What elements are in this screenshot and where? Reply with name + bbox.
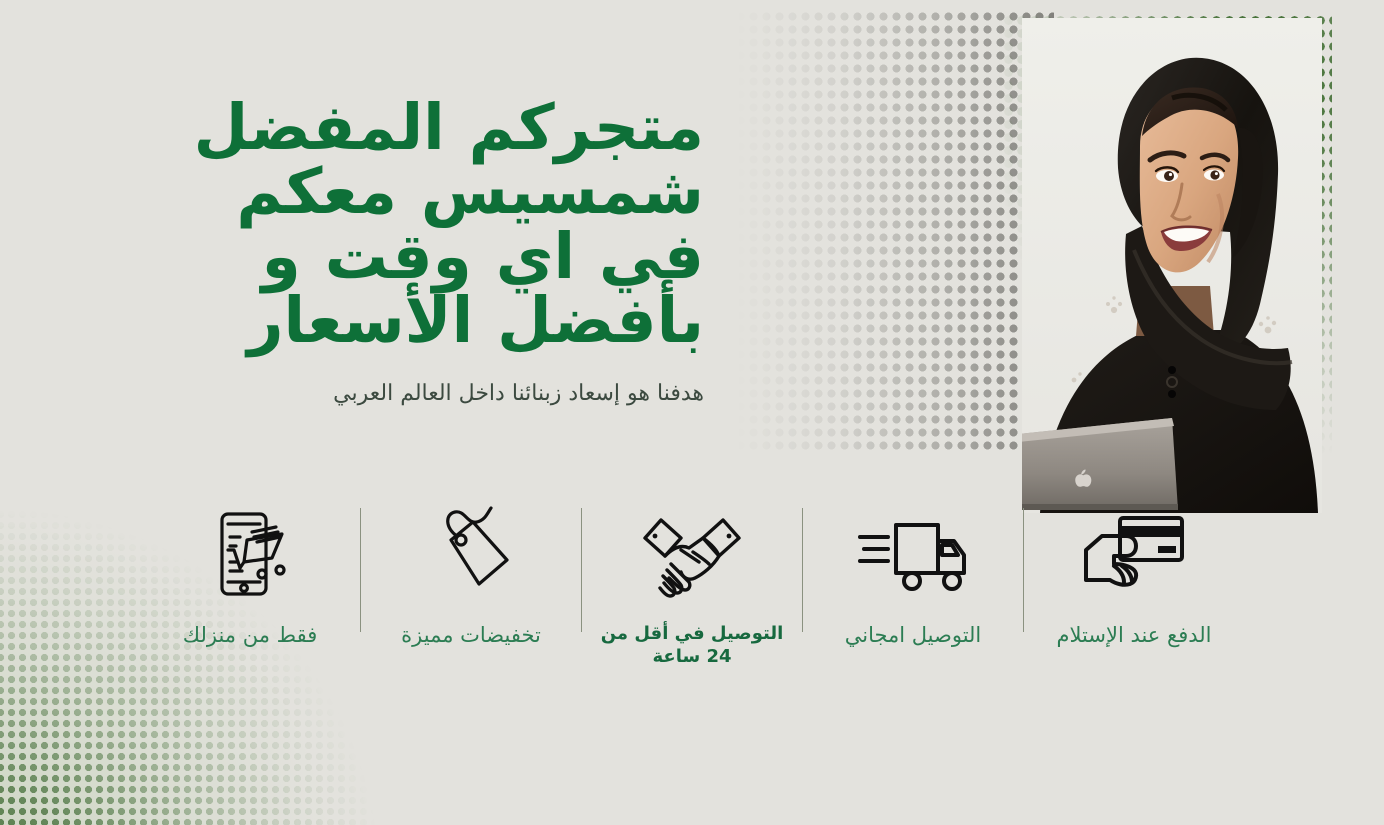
feature-label: التوصيل في أقل من 24 ساعة	[601, 622, 784, 669]
page-title: متجركم المفضل شمسيس معكم في اي وقت و بأف…	[184, 96, 704, 353]
handshake-icon	[641, 500, 743, 608]
feature-label: فقط من منزلك	[183, 622, 317, 648]
hero-subtitle: هدفنا هو إسعاد زبنائنا داخل العالم العرب…	[184, 379, 704, 409]
feature-label: التوصيل امجاني	[845, 622, 982, 648]
mobile-shopping-icon	[200, 500, 300, 608]
feature-item[interactable]: التوصيل امجاني	[815, 500, 1011, 648]
card-payment-hand-icon	[1080, 500, 1188, 608]
feature-divider	[581, 508, 582, 632]
feature-item[interactable]: فقط من منزلك	[152, 500, 348, 648]
delivery-truck-icon	[858, 500, 968, 608]
feature-divider	[360, 508, 361, 632]
feature-item[interactable]: التوصيل في أقل من 24 ساعة	[594, 500, 790, 669]
hero-copy: متجركم المفضل شمسيس معكم في اي وقت و بأف…	[184, 96, 704, 409]
hero-portrait-photo	[1022, 18, 1322, 513]
promo-banner: متجركم المفضل شمسيس معكم في اي وقت و بأف…	[0, 0, 1384, 825]
feature-item[interactable]: الدفع عند الإستلام	[1036, 500, 1232, 648]
feature-item[interactable]: تخفيضات مميزة	[373, 500, 569, 648]
feature-divider	[802, 508, 803, 632]
price-tag-icon	[421, 500, 521, 608]
feature-label: تخفيضات مميزة	[401, 622, 541, 648]
halftone-dots-grey-top-right	[734, 10, 1054, 450]
feature-strip: فقط من منزلك تخفيضات مميزة	[0, 500, 1384, 700]
feature-label: الدفع عند الإستلام	[1057, 622, 1212, 648]
feature-divider	[1023, 508, 1024, 632]
